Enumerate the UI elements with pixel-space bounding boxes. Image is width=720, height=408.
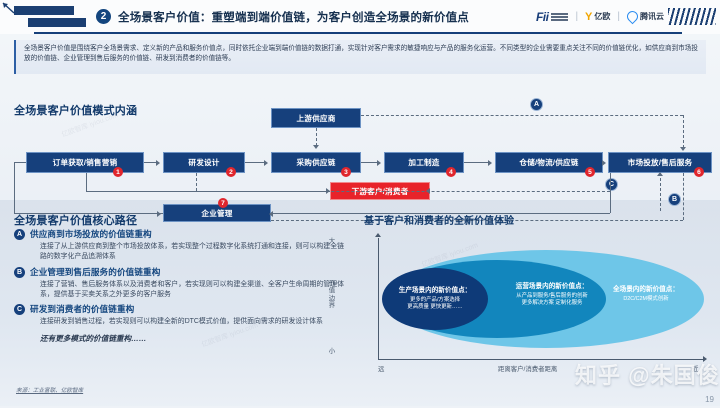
wire-order-down <box>86 173 87 191</box>
path-item-b-title: 企业管理到售后服务的价值链重构 <box>30 266 160 278</box>
chart-ellipse-2-label: 运营场景内的新价值点： 从产品到服务/售后服务的创新 更多解决方案 定制化服务 <box>500 283 604 307</box>
corner-arrow-icon <box>2 2 26 16</box>
logo-tencent-cloud: 腾讯云 <box>627 11 664 22</box>
path-item-b-body: 连接了营销、售后服务体系以及消费者和客户，若实现则可以构建全渠道、全客户生命周期… <box>40 280 344 301</box>
flow-lower-wires: 企业管理 7 <box>0 96 720 206</box>
fii-wordmark-icon <box>551 13 568 21</box>
tencent-cloud-label: 腾讯云 <box>640 11 664 22</box>
path-item-b: B 企业管理到售后服务的价值链重构 连接了营销、售后服务体系以及消费者和客户，若… <box>14 266 344 301</box>
path-item-c-title: 研发到消费者的价值链重构 <box>30 303 134 315</box>
logo-fii: Fii <box>536 10 569 24</box>
yiou-mark-icon: Y <box>585 11 592 23</box>
path-item-a-marker: A <box>14 229 25 240</box>
chart-ellipse-1: 生产场景内的新价值点： 更多的产品/方案选择 更高质量 更快更新…… <box>382 268 488 330</box>
flow-node-management-number: 7 <box>218 198 228 208</box>
yiou-label: 亿欧 <box>594 11 610 22</box>
fii-mark-icon: Fii <box>536 10 549 24</box>
path-item-c-body: 连接研发到销售过程，若实现则可以构建全新的DTC模式价值，提供面向需求的研发设计… <box>40 317 344 327</box>
wire-order-to-downstream <box>86 191 330 192</box>
path-item-c: C 研发到消费者的价值链重构 连接研发到销售过程，若实现则可以构建全新的DTC模… <box>14 303 344 327</box>
header-rule <box>34 32 682 34</box>
core-paths-list: A 供应商到市场投放的价值链重构 连接了从上游供应商到整个市场投放体系，若实现整… <box>14 228 344 408</box>
path-item-c-marker: C <box>14 304 25 315</box>
arrow-market-management <box>269 211 273 217</box>
path-item-a-body: 连接了从上游供应商到整个市场投放体系，若实现整个过程数字化系统打通和连接，则可以… <box>40 242 344 263</box>
chart-ellipse-3-detail: D2C/C2M模式创新 <box>593 296 699 303</box>
path-item-a: A 供应商到市场投放的价值链重构 连接了从上游供应商到整个市场投放体系，若实现整… <box>14 228 344 263</box>
chart-y-axis-arrow <box>375 233 381 237</box>
arrow-order-downstream <box>326 188 330 194</box>
logo-separator-1: | <box>575 11 578 22</box>
flow-node-management[interactable]: 企业管理 <box>163 204 271 222</box>
logo-group: Fii | Y 亿欧 | 腾讯云 <box>536 7 664 26</box>
page-number: 19 <box>705 395 714 404</box>
path-item-b-marker: B <box>14 267 25 278</box>
chart-ellipse-1-label: 生产场景内的新价值点： 更多的产品/方案选择 更高质量 更快更新…… <box>385 287 485 311</box>
path-item-a-title: 供应商到市场投放的价值链重构 <box>30 228 152 240</box>
path-item-a-head: A 供应商到市场投放的价值链重构 <box>14 228 344 240</box>
chart-y-tick-top: 大 <box>328 238 336 245</box>
chart-y-axis-label: 价值边界 <box>328 280 336 309</box>
tencent-cloud-mark-icon <box>625 9 641 25</box>
logo-yiou: Y 亿欧 <box>585 11 610 23</box>
corner-decoration-bar-2 <box>28 18 86 27</box>
slide-header: 2 全场景客户价值：重塑端到端价值链，为客户创造全场景的新价值点 Fii | Y… <box>0 0 720 34</box>
paths-more-note: 还有更多模式的价值链重构…… <box>40 333 344 344</box>
logo-separator-2: | <box>617 11 620 22</box>
wire-market-down <box>610 173 611 213</box>
chart-x-axis-label: 距离客户/消费者距离 <box>498 364 557 373</box>
chart-y-axis <box>378 238 379 360</box>
source-note: 来源：工业富联、亿欧智库 <box>16 386 83 394</box>
intro-text: 全场景客户价值是围绕客户全场景需求、定义新的产品和服务价值点，同时依托企业端到端… <box>24 44 698 65</box>
intro-panel: 全场景客户价值是围绕客户全场景需求、定义新的产品和服务价值点，同时依托企业端到端… <box>14 40 706 74</box>
paths-section-title: 全场景客户价值核心路径 <box>14 212 137 228</box>
chart-x-tick-left: 远 <box>378 364 384 373</box>
section-number-badge: 2 <box>96 9 111 24</box>
chart-ellipse-3-heading: 全场景内的新价值点： <box>593 286 699 295</box>
wire-left-stub <box>14 162 26 163</box>
chart-title: 基于客户和消费者的全新价值体验 <box>364 212 514 227</box>
chart-ellipse-3-label: 全场景内的新价值点： D2C/C2M模式创新 <box>593 286 699 303</box>
path-item-c-head: C 研发到消费者的价值链重构 <box>14 303 344 315</box>
watermark: 知乎 @朱国俊 <box>575 358 720 390</box>
path-item-b-head: B 企业管理到售后服务的价值链重构 <box>14 266 344 278</box>
stripe-decoration <box>668 8 716 25</box>
page-title: 全场景客户价值：重塑端到端价值链，为客户创造全场景的新价值点 <box>118 9 469 25</box>
slide-root: 2 全场景客户价值：重塑端到端价值链，为客户创造全场景的新价值点 Fii | Y… <box>0 0 720 406</box>
chart-ellipse-1-detail: 更多的产品/方案选择 更高质量 更快更新…… <box>385 297 485 312</box>
chart-ellipse-1-heading: 生产场景内的新价值点： <box>385 287 485 296</box>
arrow-to-management <box>157 211 161 217</box>
chart-ellipse-2-heading: 运营场景内的新价值点： <box>500 283 604 292</box>
chart-ellipse-2-detail: 从产品到服务/售后服务的创新 更多解决方案 定制化服务 <box>500 293 604 308</box>
chart-y-tick-bottom: 小 <box>328 348 336 355</box>
wire-left-down <box>14 162 15 213</box>
